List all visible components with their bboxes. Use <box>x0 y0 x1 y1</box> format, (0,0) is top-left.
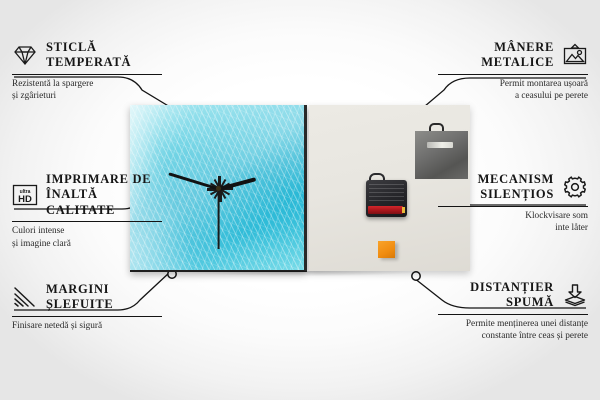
callout-margini-slefuite: MARGINI ȘLEFUITE Finisare netedă și sigu… <box>12 282 162 332</box>
callout-title-line2: ÎNALTĂ CALITATE <box>46 187 162 218</box>
quartz-mechanism <box>366 180 407 217</box>
callout-imprimare-inalta-calitate: ultra HD IMPRIMARE DE ÎNALTĂ CALITATE Cu… <box>12 172 162 250</box>
callout-sub-line1: Klockvisare som <box>438 210 588 222</box>
gear-icon <box>562 175 588 199</box>
callout-sub-line1: Finisare netedă și sigură <box>12 320 162 332</box>
battery <box>368 206 403 214</box>
callout-title-line1: MÂNERE <box>481 40 554 55</box>
callout-manere-metalice: MÂNERE METALICE Permit montarea ușoară a… <box>438 40 588 103</box>
callout-distantier-spuma: DISTANȚIER SPUMĂ Permite menținerea unei… <box>438 280 588 343</box>
callout-title-line1: MECANISM <box>478 172 554 187</box>
callout-sub-line2: a ceasului pe perete <box>438 90 588 102</box>
callout-rule <box>438 206 588 208</box>
svg-text:HD: HD <box>18 194 32 205</box>
callout-title-line2: METALICE <box>481 55 554 70</box>
callout-title-line2: SPUMĂ <box>470 295 554 310</box>
callout-sub-line2: inte låter <box>438 222 588 234</box>
callout-title-line1: DISTANȚIER <box>470 280 554 295</box>
product-infographic: STICLĂ TEMPERATĂ Rezistentă la spargere … <box>0 0 600 400</box>
callout-title-line2: SILENȚIOS <box>478 187 554 202</box>
callout-sub-line1: Permite menținerea unei distanțe <box>438 318 588 330</box>
diagonal-lines-icon <box>12 285 38 309</box>
clock-center-pin <box>216 186 221 191</box>
callout-rule <box>438 74 588 76</box>
second-hand <box>218 189 220 249</box>
callout-title-line1: STICLĂ <box>46 40 131 55</box>
callout-sub-line2: și imagine clară <box>12 238 162 250</box>
callout-sub-line1: Permit montarea ușoară <box>438 78 588 90</box>
callout-mecanism-silentios: MECANISM SILENȚIOS Klockvisare som inte … <box>438 172 588 235</box>
callout-sub-line2: constante între ceas și perete <box>438 330 588 342</box>
callout-sticla-temperata: STICLĂ TEMPERATĂ Rezistentă la spargere … <box>12 40 162 103</box>
callout-title-line1: MARGINI <box>46 282 113 297</box>
arrow-down-onto-stack-icon <box>562 283 588 307</box>
callout-sub-line2: și zgârieturi <box>12 90 162 102</box>
ultra-hd-icon: ultra HD <box>12 183 38 207</box>
callout-rule <box>438 314 588 316</box>
callout-title-line1: IMPRIMARE DE <box>46 172 162 187</box>
foam-spacer <box>378 241 395 258</box>
callout-sub-line1: Culori intense <box>12 225 162 237</box>
callout-sub-line1: Rezistentă la spargere <box>12 78 162 90</box>
product-shadow <box>132 271 468 278</box>
hanger-slot <box>427 142 453 148</box>
picture-frame-hanger-icon <box>562 43 588 67</box>
callout-rule <box>12 316 162 318</box>
product-photo <box>130 105 470 287</box>
callout-title-line2: TEMPERATĂ <box>46 55 131 70</box>
callout-rule <box>12 221 162 223</box>
diamond-icon <box>12 43 38 67</box>
mechanism-label <box>369 183 404 201</box>
callout-rule <box>12 74 162 76</box>
callout-title-line2: ȘLEFUITE <box>46 297 113 312</box>
